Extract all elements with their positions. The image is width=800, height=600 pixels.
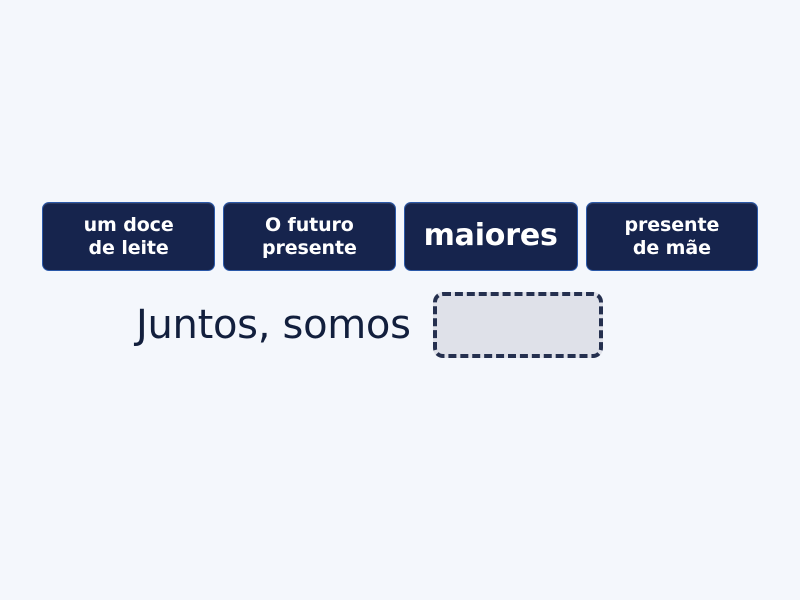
word-tile-label: maiores bbox=[424, 219, 558, 254]
sentence-line: Juntos, somos bbox=[136, 288, 603, 362]
word-tile-o-futuro-presente[interactable]: O futuro presente bbox=[223, 202, 395, 271]
word-tile-um-doce-de-leite[interactable]: um doce de leite bbox=[42, 202, 215, 271]
word-tile-label: um doce de leite bbox=[84, 214, 174, 258]
word-tile-presente-de-mae[interactable]: presente de mãe bbox=[586, 202, 758, 271]
word-tile-label: presente de mãe bbox=[625, 214, 720, 258]
sentence-blank-drop-zone[interactable] bbox=[433, 292, 603, 358]
sentence-text: Juntos, somos bbox=[136, 305, 411, 345]
word-tile-label: O futuro presente bbox=[262, 214, 357, 258]
activity-stage: um doce de leite O futuro presente maior… bbox=[0, 0, 800, 600]
word-tile-maiores[interactable]: maiores bbox=[404, 202, 578, 271]
word-tile-tray: um doce de leite O futuro presente maior… bbox=[42, 202, 758, 271]
